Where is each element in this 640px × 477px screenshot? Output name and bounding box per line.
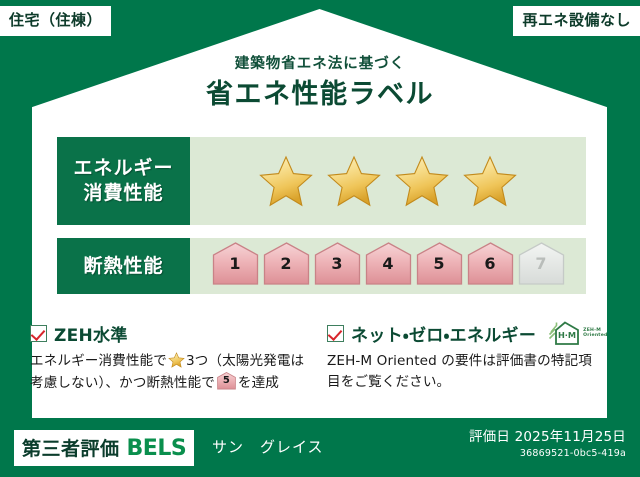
zeh-m-caption-line2: Oriented	[583, 333, 607, 338]
zeh-criteria-text: エネルギー消費性能で3つ（太陽光発電は考慮しない）、かつ断熱性能で5を達成	[30, 351, 315, 398]
building-name-text: サン グレイス	[212, 436, 324, 457]
netzero-criteria-title: ネット・ゼロ・エネルギー	[351, 321, 536, 346]
star-icon	[462, 154, 518, 208]
renewable-equipment-chip: 再エネ設備なし	[513, 6, 640, 36]
zeh-criteria-title: ZEH水準	[54, 321, 128, 346]
star-icon	[394, 154, 450, 208]
evaluation-date-text: 評価日 2025年11月25日	[469, 429, 626, 446]
bels-prefix-text: 第三者評価	[22, 434, 120, 461]
bels-logo-text: BELS	[127, 436, 187, 461]
insulation-grade-badge-4: 4	[365, 242, 412, 290]
insulation-performance-row: 断熱性能	[57, 238, 586, 294]
insulation-grade-badge-2: 2	[263, 242, 310, 290]
star-icon	[258, 154, 314, 208]
energy-label-line2: 消費性能	[83, 182, 163, 204]
energy-performance-label: 住宅（住棟） 再エネ設備なし 建築物省エネ法に基づく 省エネ性能ラベル エネルギ…	[0, 0, 640, 477]
zeh-criteria-header: ZEH水準	[30, 322, 315, 344]
insulation-performance-rating: 1 2 3 4	[190, 238, 586, 294]
title-block: 建築物省エネ法に基づく 省エネ性能ラベル	[0, 56, 640, 110]
bels-certification-chip: 第三者評価 BELS	[14, 430, 194, 466]
footer-bar: 第三者評価 BELS サン グレイス 評価日 2025年11月25日 36869…	[0, 418, 640, 477]
checkmark-icon	[30, 325, 47, 342]
star-rating-strip	[258, 154, 518, 208]
zeh-criteria-block: ZEH水準 エネルギー消費性能で3つ（太陽光発電は考慮しない）、かつ断熱性能で5…	[30, 322, 315, 398]
insulation-grade-badge-5: 5	[416, 242, 463, 290]
energy-performance-rating	[190, 137, 586, 225]
evaluation-id-text: 36869521-0bc5-419a	[469, 448, 626, 459]
netzero-criteria-header: ネット・ゼロ・エネルギー H·M ZEH-M Oriented	[327, 322, 602, 344]
zeh-m-house-icon: H·M	[547, 320, 581, 347]
page-title: 省エネ性能ラベル	[0, 79, 640, 110]
insulation-performance-label-box: 断熱性能	[57, 238, 190, 294]
insulation-grade-badge-6: 6	[467, 242, 514, 290]
star-icon	[326, 154, 382, 208]
zeh-text-part1: エネルギー消費性能で	[30, 353, 167, 369]
inline-insulation-grade-badge: 5	[217, 372, 236, 397]
checkmark-icon	[327, 325, 344, 342]
insulation-grade-badge-3: 3	[314, 242, 361, 290]
insulation-grade-strip: 1 2 3 4	[212, 242, 565, 290]
zeh-m-logo-caption: ZEH-M Oriented	[583, 328, 607, 339]
energy-performance-row: エネルギー 消費性能	[57, 137, 586, 225]
title-subtitle: 建築物省エネ法に基づく	[0, 56, 640, 73]
star-icon	[168, 352, 185, 368]
energy-performance-label-box: エネルギー 消費性能	[57, 137, 190, 225]
insulation-grade-badge-7: 7	[518, 242, 565, 290]
zeh-m-oriented-logo: H·M ZEH-M Oriented	[547, 320, 607, 347]
netzero-criteria-text: ZEH-M Oriented の要件は評価書の特記項目をご覧ください。	[327, 351, 602, 394]
zeh-text-part3: を達成	[238, 375, 279, 391]
zeh-m-caption-line1: ZEH-M	[583, 328, 601, 333]
svg-text:H·M: H·M	[558, 330, 576, 340]
netzero-criteria-block: ネット・ゼロ・エネルギー H·M ZEH-M Oriented ZEH-M Or…	[327, 322, 602, 394]
energy-label-line1: エネルギー	[73, 157, 173, 179]
insulation-grade-badge-1: 1	[212, 242, 259, 290]
building-type-chip: 住宅（住棟）	[0, 6, 111, 36]
evaluation-info-block: 評価日 2025年11月25日 36869521-0bc5-419a	[469, 429, 626, 459]
insulation-label-text: 断熱性能	[83, 254, 163, 279]
